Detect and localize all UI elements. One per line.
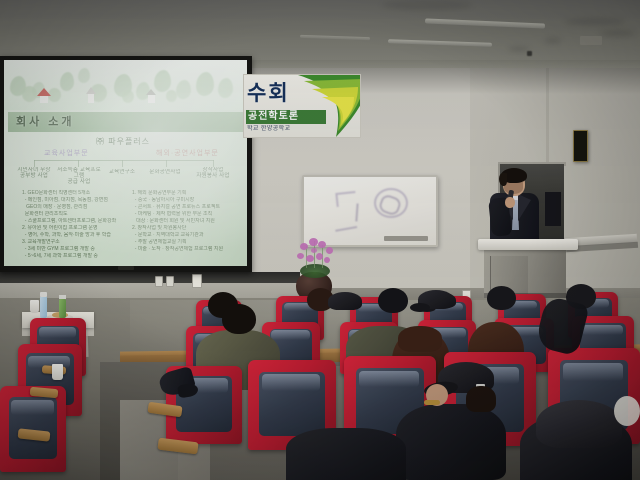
house-icon	[37, 88, 51, 103]
person-head	[487, 286, 516, 310]
projection-screen: 회사 소개 ㈜ 파우플러스 교육사업부문 해외·공연사업부문 시민자녀 무상공부…	[4, 60, 247, 266]
leaf-icon	[78, 68, 90, 83]
person-head	[378, 288, 408, 313]
org-connector	[34, 160, 35, 167]
tree-icon	[122, 90, 134, 103]
org-box: 저소득층 교육프로그램공급 사업	[57, 167, 101, 185]
bracelet	[424, 400, 440, 405]
tree-icon	[166, 90, 177, 102]
beanie-crown	[328, 292, 362, 310]
leaf-icon	[196, 72, 214, 96]
orchid-flower	[311, 248, 317, 253]
leaf-icon	[176, 80, 191, 99]
lecture-hall-photo: 회사 소개 ㈜ 파우플러스 교육사업부문 해외·공연사업부문 시민자녀 무상공부…	[0, 0, 640, 480]
seat-highlight	[262, 374, 320, 390]
banner-main-text: 수회	[247, 80, 337, 108]
seat-highlight	[582, 325, 623, 335]
person-black-cap-front-body	[396, 404, 506, 480]
power-outlet[interactable]	[192, 274, 202, 288]
leaf-icon	[218, 78, 233, 98]
whiteboard-marker-tray	[384, 236, 428, 241]
ceiling-stain	[565, 18, 625, 25]
seat-highlight	[271, 330, 309, 339]
paper-cup-on-armrest	[52, 364, 63, 380]
power-outlet[interactable]	[166, 276, 174, 287]
wall-vent	[580, 36, 602, 45]
slide-group-label-left: 교육사업부문	[44, 148, 89, 158]
seat-highlight	[359, 371, 420, 388]
power-outlet[interactable]	[155, 276, 163, 287]
water-bottle	[40, 296, 47, 318]
seat-highlight	[39, 327, 76, 337]
orchid-flower	[306, 255, 314, 262]
person-head	[222, 304, 256, 334]
slide-org-chart: 교육사업부문 해외·공연사업부문 시민자녀 무상공부방 사업 저소득층 교육프로…	[8, 132, 243, 262]
presenter-hand	[505, 197, 515, 208]
bottle-cap	[59, 295, 66, 299]
leaf-icon	[60, 72, 74, 91]
orchid-flower	[324, 257, 330, 263]
ceiling-stain	[545, 38, 561, 43]
wall-mounted-speaker	[573, 130, 588, 162]
house-icon	[146, 89, 157, 103]
org-connector	[166, 160, 167, 167]
person-hair-crown	[398, 326, 442, 352]
bottle-cap	[40, 292, 47, 297]
ceiling-stain	[600, 30, 635, 36]
orchid-flower	[309, 238, 318, 246]
slide-group-label-right: 해외·공연사업부문	[156, 148, 219, 158]
presenter-hair	[499, 173, 507, 186]
light-blob	[614, 396, 640, 426]
orchid-flower	[318, 241, 326, 248]
orchid-flower	[297, 253, 304, 259]
tree-icon	[22, 86, 37, 102]
slide-title: 회사 소개	[16, 114, 136, 130]
org-connector	[213, 160, 214, 167]
podium-top	[478, 239, 578, 250]
orchid-leaves	[300, 264, 330, 278]
banner-sub-text-2: 학교 한양공학교	[247, 125, 317, 134]
org-box: 문화공연사업	[145, 169, 185, 175]
person-center-bottom	[286, 428, 406, 480]
slide-right-column: 1. 해외 문화공연부문 기획 - 중국 · 동남아시아 구미시장 - 콘서트 …	[132, 190, 237, 253]
orchid-flower	[326, 247, 333, 254]
ceiling-stain	[382, 0, 472, 10]
slide-header-illustration	[4, 60, 247, 110]
slide-left-column: 1. GEO문화센터 직영센터 5개소 - 메인점, 미아점, 대치점, 목동점…	[22, 190, 122, 260]
paper-cup	[30, 300, 39, 313]
person-foreground-hair	[536, 400, 622, 448]
org-box: 시민자녀 무상공부방 사업	[13, 167, 55, 179]
org-connector	[122, 160, 123, 167]
org-connector	[78, 160, 79, 167]
screen-mount	[118, 266, 134, 270]
org-connector	[34, 160, 214, 161]
person-hair	[466, 386, 496, 412]
org-box: 창작사업자원봉사 사업	[191, 167, 235, 179]
ceiling-fitting	[527, 51, 532, 56]
org-box: 교육연구소	[103, 169, 141, 175]
orchid-flower	[316, 253, 323, 260]
seat-highlight	[563, 363, 624, 380]
orchid-flower	[300, 243, 308, 250]
seat-highlight	[11, 400, 55, 415]
person-beanie	[328, 292, 362, 316]
house-icon	[86, 87, 96, 103]
green-bottle	[59, 299, 66, 318]
person-black-cap-left	[418, 290, 454, 316]
cap-brim	[410, 303, 430, 312]
banner-sub-text: 공전학토론	[246, 110, 326, 124]
